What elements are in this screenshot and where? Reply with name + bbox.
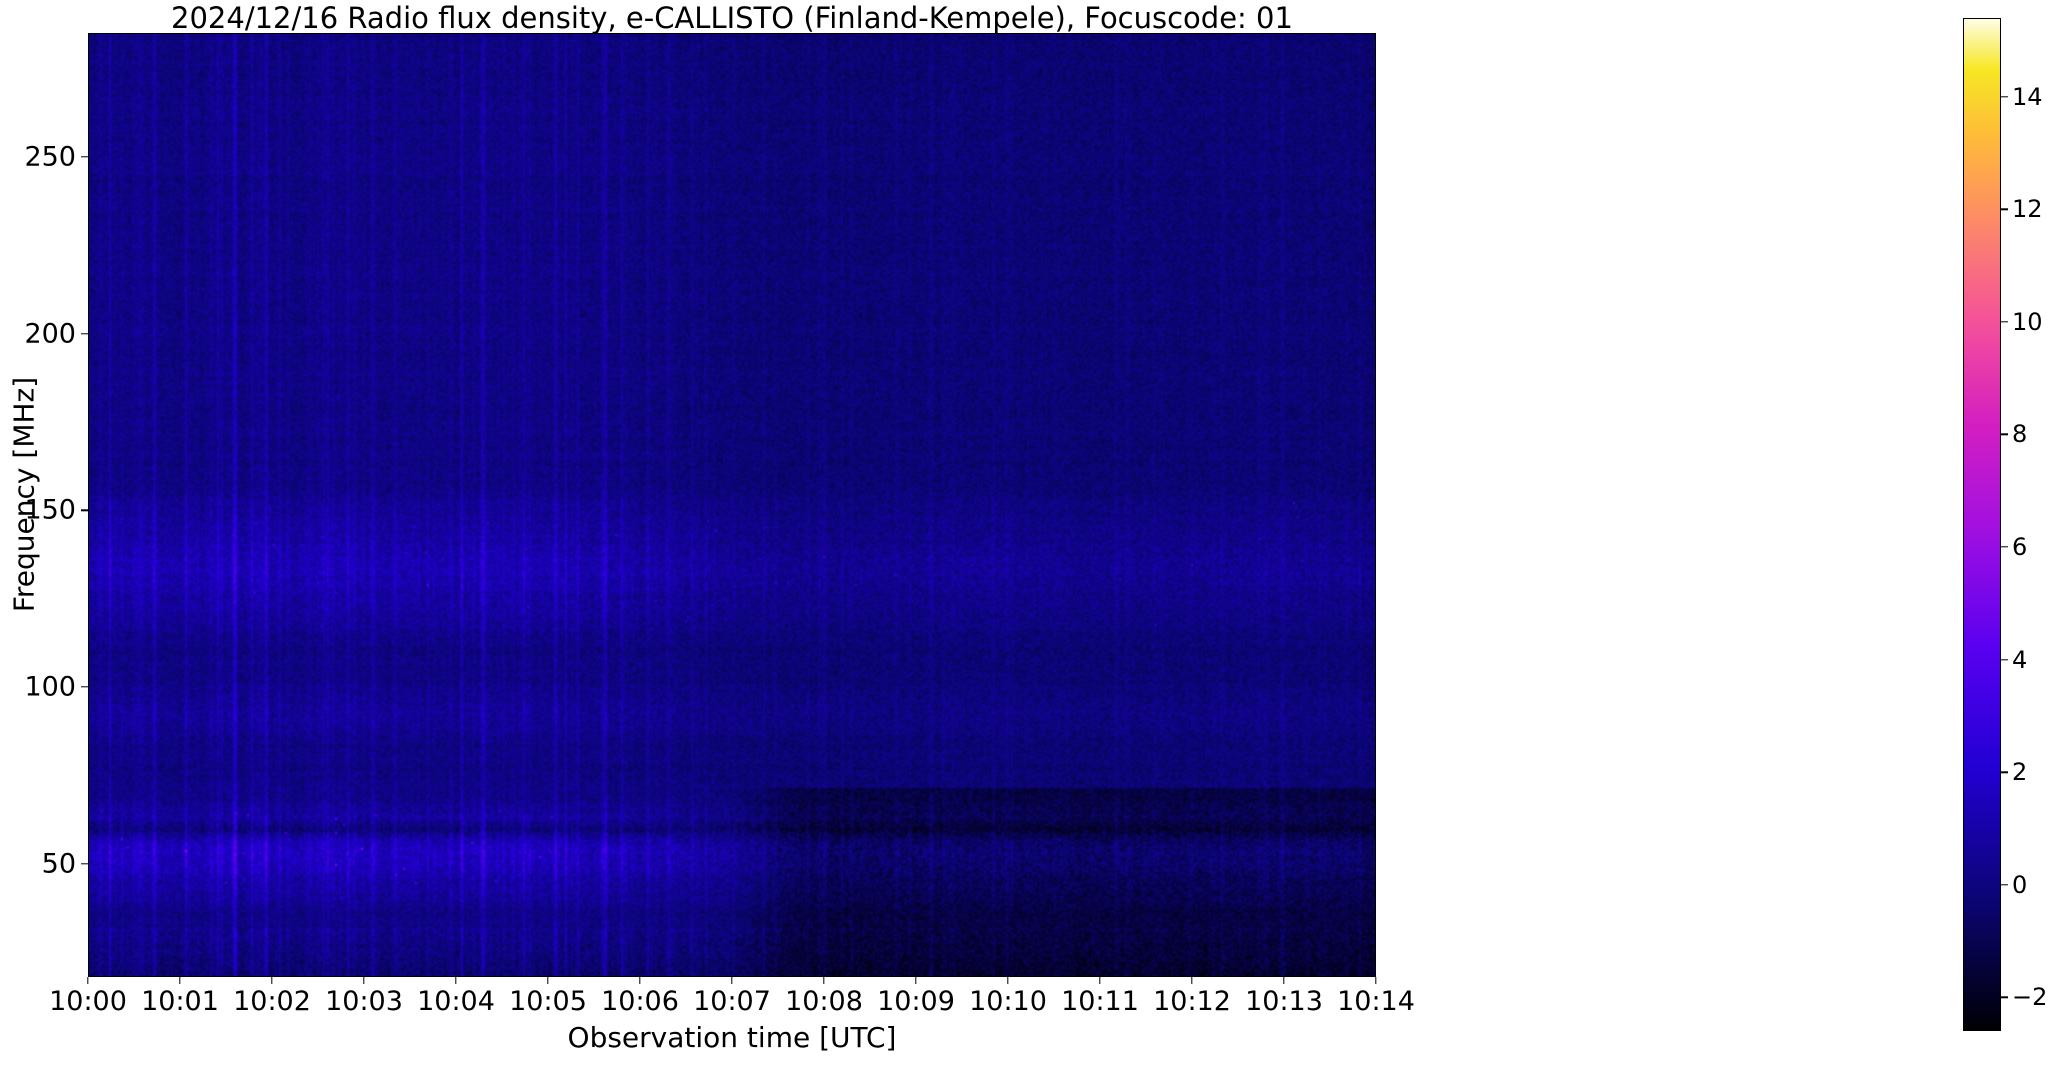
x-tick-mark <box>179 977 180 984</box>
y-tick-label: 150 <box>24 497 76 524</box>
x-tick-mark <box>271 977 272 984</box>
colorbar-tick-mark <box>2001 659 2008 660</box>
spectrogram-image <box>89 34 1376 977</box>
x-tick-label: 10:10 <box>969 987 1047 1017</box>
x-axis-label: Observation time [UTC] <box>88 1021 1376 1054</box>
colorbar-tick-label: 10 <box>2012 310 2043 334</box>
y-tick-mark <box>81 510 88 511</box>
x-tick-label: 10:00 <box>49 987 127 1017</box>
colorbar-tick-mark <box>2001 321 2008 322</box>
colorbar[interactable] <box>1963 18 2001 1031</box>
y-tick-label: 200 <box>24 320 76 347</box>
spectrogram-figure: 2024/12/16 Radio flux density, e-CALLIST… <box>0 0 2066 1067</box>
x-tick-label: 10:02 <box>233 987 311 1017</box>
colorbar-tick-mark <box>2001 96 2008 97</box>
y-tick-label: 100 <box>24 674 76 701</box>
colorbar-tick-label: 4 <box>2012 648 2027 672</box>
x-tick-label: 10:06 <box>601 987 679 1017</box>
x-tick-mark <box>823 977 824 984</box>
x-tick-label: 10:05 <box>509 987 587 1017</box>
x-tick-label: 10:03 <box>325 987 403 1017</box>
x-tick-mark <box>639 977 640 984</box>
x-tick-label: 10:14 <box>1337 987 1415 1017</box>
x-tick-mark <box>1007 977 1008 984</box>
colorbar-tick-label: 12 <box>2012 197 2043 221</box>
colorbar-tick-mark <box>2001 997 2008 998</box>
colorbar-tick-label: 0 <box>2012 873 2027 897</box>
x-tick-mark <box>1283 977 1284 984</box>
colorbar-tick-label: 6 <box>2012 535 2027 559</box>
x-tick-label: 10:08 <box>785 987 863 1017</box>
colorbar-tick-mark <box>2001 771 2008 772</box>
x-tick-mark <box>363 977 364 984</box>
colorbar-tick-mark <box>2001 546 2008 547</box>
x-tick-mark <box>87 977 88 984</box>
colorbar-tick-mark <box>2001 209 2008 210</box>
colorbar-tick-label: −2 <box>2012 985 2047 1009</box>
x-tick-mark <box>1099 977 1100 984</box>
y-tick-label: 50 <box>42 850 76 877</box>
x-tick-label: 10:13 <box>1245 987 1323 1017</box>
y-tick-mark <box>81 686 88 687</box>
y-tick-label: 250 <box>24 143 76 170</box>
y-tick-mark <box>81 333 88 334</box>
colorbar-tick-mark <box>2001 884 2008 885</box>
x-tick-label: 10:12 <box>1153 987 1231 1017</box>
colorbar-gradient <box>1964 19 2000 1030</box>
y-tick-mark <box>81 156 88 157</box>
x-tick-mark <box>455 977 456 984</box>
x-tick-mark <box>731 977 732 984</box>
colorbar-tick-label: 2 <box>2012 760 2027 784</box>
x-tick-label: 10:07 <box>693 987 771 1017</box>
x-tick-label: 10:01 <box>141 987 219 1017</box>
spectrogram-plot-area[interactable] <box>88 33 1376 977</box>
page-title: 2024/12/16 Radio flux density, e-CALLIST… <box>88 2 1376 34</box>
colorbar-tick-mark <box>2001 434 2008 435</box>
colorbar-tick-label: 8 <box>2012 422 2027 446</box>
x-tick-label: 10:11 <box>1061 987 1139 1017</box>
colorbar-tick-label: 14 <box>2012 85 2043 109</box>
x-tick-label: 10:04 <box>417 987 495 1017</box>
x-tick-mark <box>1191 977 1192 984</box>
x-tick-mark <box>1375 977 1376 984</box>
y-tick-mark <box>81 863 88 864</box>
x-tick-mark <box>547 977 548 984</box>
x-tick-label: 10:09 <box>877 987 955 1017</box>
x-tick-mark <box>915 977 916 984</box>
